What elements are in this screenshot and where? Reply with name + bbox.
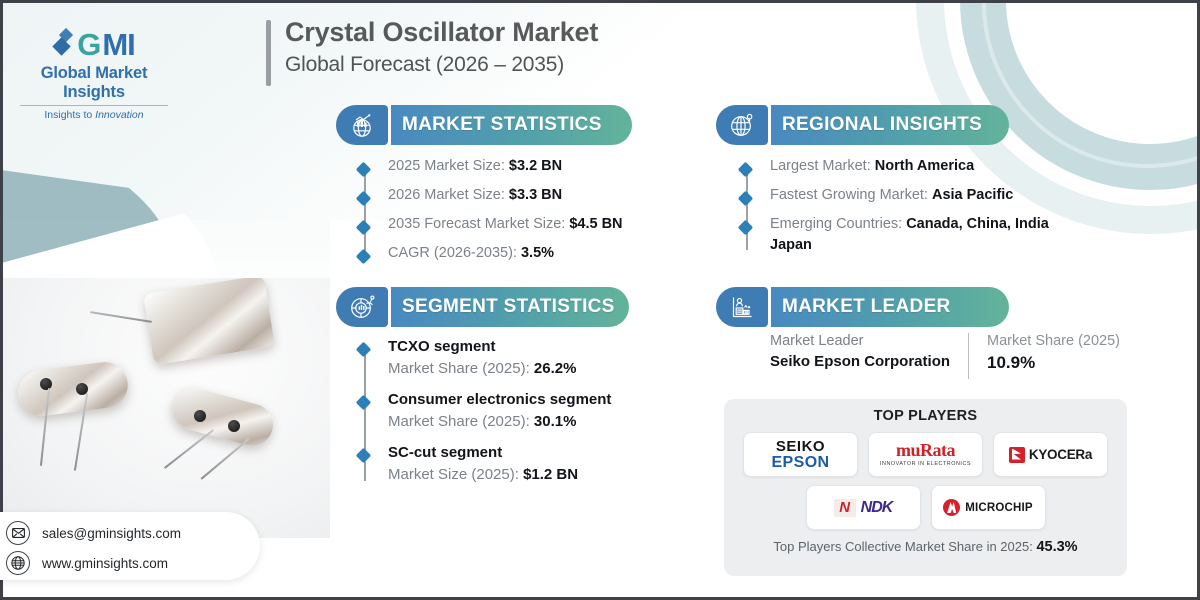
list-item: Largest Market: North America (740, 158, 1140, 174)
logo-company-name: Global Market Insights (14, 64, 174, 102)
list-item: 2026 Market Size: $3.3 BN (358, 187, 678, 203)
item-label: Market Share (2025): (388, 413, 534, 430)
collective-share-label: Top Players Collective Market Share in 2… (773, 539, 1036, 554)
item-label: Market Share (2025): (388, 360, 534, 377)
player-logo-kyocera[interactable]: KYOCERa (993, 432, 1108, 477)
list-regional-insights: Largest Market: North America Fastest Gr… (740, 158, 1140, 266)
item-value: Asia Pacific (932, 187, 1013, 203)
market-leader-label: Market Leader (770, 333, 950, 349)
section-header-market-statistics: MARKET STATISTICS (336, 105, 632, 145)
section-header-pill-body: SEGMENT STATISTICS (388, 287, 629, 327)
section-title-segment-statistics: SEGMENT STATISTICS (402, 296, 615, 318)
list-item: 2025 Market Size: $3.2 BN (358, 158, 678, 174)
frame-border-left (0, 0, 3, 600)
page-title-block: Crystal Oscillator Market Global Forecas… (266, 16, 598, 86)
list-item: SC-cut segment Market Size (2025): $1.2 … (358, 444, 688, 483)
item-value: Canada, China, India (906, 216, 1049, 232)
segment-name: TCXO segment (388, 338, 576, 355)
item-value: $3.3 BN (509, 187, 562, 203)
item-value: $4.5 BN (569, 216, 622, 232)
list-item: CAGR (2026-2035): 3.5% (358, 245, 678, 261)
logo-tagline-pre: Insights to (44, 109, 95, 121)
murata-tagline: INNOVATOR IN ELECTRONICS (880, 462, 971, 467)
contact-website: www.gminsights.com (42, 556, 168, 571)
contact-website-row[interactable]: www.gminsights.com (6, 551, 260, 575)
list-item: Emerging Countries: Canada, China, India… (740, 216, 1140, 253)
contact-email-row[interactable]: sales@gminsights.com (6, 521, 260, 545)
list-item: 2035 Forecast Market Size: $4.5 BN (358, 216, 678, 232)
list-item: TCXO segment Market Share (2025): 26.2% (358, 338, 688, 377)
section-title-market-statistics: MARKET STATISTICS (402, 114, 602, 136)
product-image-crystal-oscillators (0, 278, 330, 538)
title-accent-bar (266, 20, 271, 86)
item-label: CAGR (2026-2035): (388, 245, 521, 261)
ndk-text: NDK (861, 499, 893, 517)
top-players-title: TOP PLAYERS (724, 399, 1127, 424)
item-label: 2035 Forecast Market Size: (388, 216, 569, 232)
globe-icon (6, 551, 30, 575)
logo-tagline: Insights to Innovation (14, 109, 174, 121)
logo-letters-mi: MI (102, 29, 134, 60)
top-players-row-2: N NDK MICROCHIP (724, 485, 1127, 530)
diamond-icon (53, 27, 73, 61)
player-logo-murata[interactable]: muRata INNOVATOR IN ELECTRONICS (868, 432, 983, 477)
contact-email: sales@gminsights.com (42, 526, 181, 541)
globe-pin-icon (716, 105, 768, 145)
contact-card: sales@gminsights.com www.gminsights.com (0, 512, 260, 580)
player-logo-seiko-epson[interactable]: SEIKO EPSON (743, 432, 858, 477)
list-item: Fastest Growing Market: Asia Pacific (740, 187, 1140, 203)
murata-text: muRata (880, 441, 971, 459)
section-title-regional-insights: REGIONAL INSIGHTS (782, 114, 982, 136)
envelope-icon (6, 521, 30, 545)
seiko-text: SEIKO (771, 439, 829, 454)
collective-share-value: 45.3% (1036, 539, 1077, 555)
top-players-panel: TOP PLAYERS SEIKO EPSON muRata INNOVATOR… (724, 399, 1127, 576)
logo-mark: G MI (14, 27, 174, 61)
section-header-pill-body: REGIONAL INSIGHTS (768, 105, 1009, 145)
item-label: Largest Market: (770, 158, 875, 174)
item-label: Market Size (2025): (388, 466, 523, 483)
top-players-collective-share: Top Players Collective Market Share in 2… (724, 539, 1127, 555)
segment-name: SC-cut segment (388, 444, 578, 461)
page-title: Crystal Oscillator Market (285, 16, 598, 48)
item-value: $1.2 BN (523, 466, 578, 483)
globe-chart-icon (336, 105, 388, 145)
epson-text: EPSON (771, 455, 829, 471)
item-value: 26.2% (534, 360, 577, 377)
market-share-label: Market Share (2025) (987, 333, 1120, 349)
list-item: Consumer electronics segment Market Shar… (358, 391, 688, 430)
decor-wedge-left-overlay (0, 115, 240, 514)
logo-divider (20, 105, 168, 106)
microchip-mark-icon (943, 499, 960, 516)
list-segment-statistics: TCXO segment Market Share (2025): 26.2% … (358, 338, 688, 497)
top-players-row-1: SEIKO EPSON muRata INNOVATOR IN ELECTRON… (724, 432, 1127, 477)
section-header-pill-body: MARKET LEADER (768, 287, 1009, 327)
gmi-logo: G MI Global Market Insights Insights to … (14, 27, 174, 121)
decor-arc-thin (982, 0, 1200, 168)
list-market-statistics: 2025 Market Size: $3.2 BN 2026 Market Si… (358, 158, 678, 274)
item-value: 3.5% (521, 245, 554, 261)
ndk-mark-icon: N (834, 499, 856, 517)
section-header-segment-statistics: SEGMENT STATISTICS (336, 287, 629, 327)
market-share-col: Market Share (2025) 10.9% (987, 333, 1120, 373)
infographic-canvas: G MI Global Market Insights Insights to … (0, 0, 1200, 600)
pie-chart-icon (336, 287, 388, 327)
market-leader-stats: Market Leader Seiko Epson Corporation Ma… (770, 333, 1120, 379)
kyocera-text: KYOCERa (1029, 447, 1092, 462)
item-label: Emerging Countries: (770, 216, 906, 232)
section-header-market-leader: MARKET LEADER (716, 287, 1009, 327)
kyocera-mark-icon (1009, 447, 1025, 463)
decor-wedge-left (0, 135, 180, 435)
item-label: 2026 Market Size: (388, 187, 509, 203)
market-leader-value: Seiko Epson Corporation (770, 353, 950, 370)
section-header-regional-insights: REGIONAL INSIGHTS (716, 105, 1009, 145)
item-value: North America (875, 158, 974, 174)
item-label: Fastest Growing Market: (770, 187, 932, 203)
logo-tagline-emphasis: Innovation (95, 109, 143, 121)
item-value: $3.2 BN (509, 158, 562, 174)
item-label: 2025 Market Size: (388, 158, 509, 174)
section-title-market-leader: MARKET LEADER (782, 296, 951, 318)
microchip-text: MICROCHIP (965, 502, 1033, 514)
segment-name: Consumer electronics segment (388, 391, 611, 408)
logo-letter-g: G (77, 29, 100, 60)
market-leader-divider (968, 333, 969, 379)
item-value-continued: Japan (770, 237, 1049, 253)
market-share-value: 10.9% (987, 353, 1120, 373)
podium-leader-icon (716, 287, 768, 327)
frame-border-top (0, 0, 1200, 3)
page-subtitle: Global Forecast (2026 – 2035) (285, 52, 598, 77)
market-leader-name-col: Market Leader Seiko Epson Corporation (770, 333, 950, 370)
item-value: 30.1% (534, 413, 577, 430)
player-logo-microchip[interactable]: MICROCHIP (931, 485, 1046, 530)
section-header-pill-body: MARKET STATISTICS (388, 105, 632, 145)
player-logo-ndk[interactable]: N NDK (806, 485, 921, 530)
